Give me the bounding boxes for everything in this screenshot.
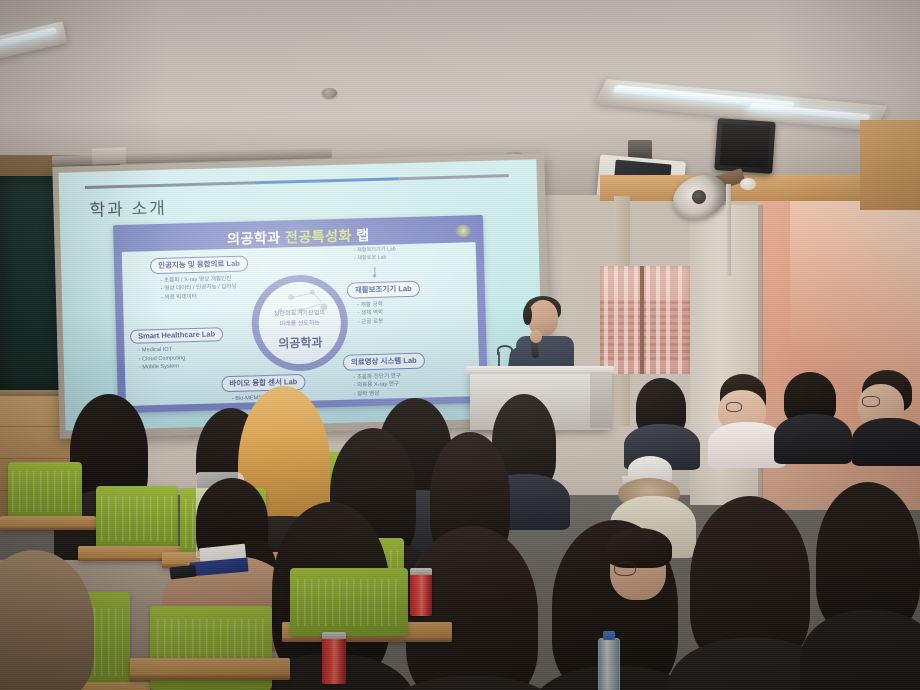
wall-wood-trim-corner	[860, 120, 920, 210]
ring-text-line3: 의공학과	[259, 333, 341, 352]
desk	[0, 516, 96, 530]
wall-knob-icon	[740, 178, 756, 190]
lab-note-item: - 재활로봇 Lab	[354, 254, 396, 263]
chair	[8, 462, 82, 520]
screen-roller-bracket	[92, 148, 126, 165]
window-mullion	[640, 266, 644, 374]
lab-ai-convergence-label: 인공지능 및 융합의료 Lab	[150, 255, 248, 274]
presenter-hair-side	[523, 305, 532, 325]
soda-can	[410, 568, 432, 616]
arrow-head-icon	[372, 275, 376, 278]
slide-header-title: 학과 소개	[89, 194, 167, 221]
lab-ai-convergence-items: - 초음파 / X-ray 영상 재활인진 - 영상 데이터 / 인공지능 / …	[160, 274, 248, 302]
ceiling-sprinkler-icon	[322, 88, 337, 98]
lab-rehab-assistive: 재활보조기기 Lab - 재활 공학 - 생체 역학 - 근골 로봇	[347, 278, 421, 327]
center-ring-graphic: 첨단의료기기산업의 미래를 선도하는 의공학과	[250, 274, 349, 373]
panel-title-part2: 전공특성화	[285, 228, 352, 246]
soda-can	[322, 632, 346, 684]
lab-smart-healthcare-label: Smart Healthcare Lab	[130, 327, 223, 344]
lab-rehab-assistive-label: 재활보조기기 Lab	[347, 280, 420, 298]
lab-medical-imaging-label: 의료영상 시스템 Lab	[343, 352, 425, 370]
lab-smart-healthcare-items: - Medical IOT - Cloud Computing - Mobile…	[138, 344, 224, 372]
lab-rehab-assistive-items: - 재활 공학 - 생체 역학 - 근골 로봇	[357, 299, 421, 327]
window	[600, 266, 690, 374]
slide-divider	[85, 174, 509, 189]
audience	[0, 370, 920, 690]
lecture-hall-photo: 학과 소개 의공학과 전공특성화 랩	[0, 0, 920, 690]
panel-title-part1: 의공학과	[227, 230, 281, 247]
panel-title-part3: 랩	[356, 227, 370, 243]
chair	[290, 568, 408, 636]
presenter-hand	[530, 330, 542, 343]
lab-smart-healthcare: Smart Healthcare Lab - Medical IOT - Clo…	[130, 323, 224, 373]
lab-ai-convergence: 인공지능 및 융합의료 Lab - 초음파 / X-ray 영상 재활인진 - …	[150, 252, 249, 302]
water-bottle	[598, 638, 620, 690]
lab-item: - 근골 로봇	[358, 316, 421, 326]
fan-pole	[726, 184, 731, 276]
fan-hub-icon	[692, 190, 706, 204]
wall-speaker	[714, 118, 775, 174]
chair	[96, 486, 178, 550]
lab-rehab-note: - 재활복지기기 Lab - 재활로봇 Lab	[354, 246, 396, 263]
lab-item: - 의료 빅데이터	[161, 291, 249, 302]
desk	[130, 658, 290, 680]
